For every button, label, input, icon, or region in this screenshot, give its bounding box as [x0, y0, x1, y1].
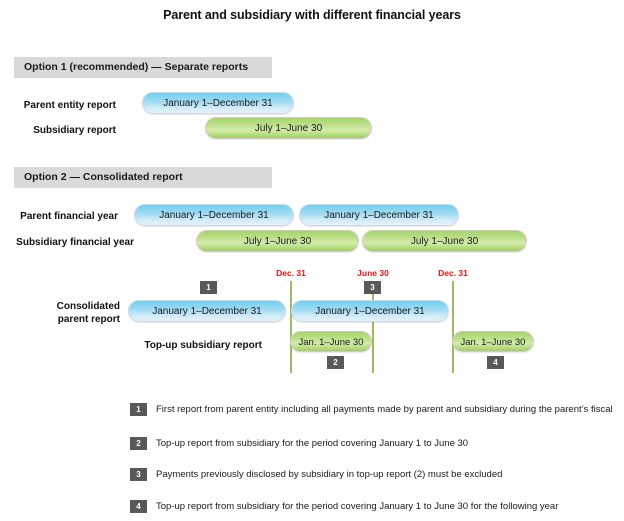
badge-marker-2: 2	[327, 356, 344, 369]
vline-dec-31-second	[452, 281, 454, 373]
pill-subsidiary-financial-year-1: July 1–June 30	[196, 230, 359, 252]
date-marker-june-30: June 30	[347, 268, 399, 278]
badge-marker-4: 4	[487, 356, 504, 369]
legend-text-1: First report from parent entity includin…	[156, 402, 613, 417]
row-label-consolidated-line1: Consolidated	[16, 300, 120, 313]
row-label-parent-entity-report: Parent entity report	[16, 99, 116, 112]
row-label-consolidated-line2: parent report	[16, 313, 120, 326]
legend-text-2: Top-up report from subsidiary for the pe…	[156, 436, 468, 451]
legend-text-4: Top-up report from subsidiary for the pe…	[156, 499, 558, 514]
date-marker-dec-31-second: Dec. 31	[427, 268, 479, 278]
row-label-subsidiary-financial-year: Subsidiary financial year	[16, 236, 134, 249]
pill-parent-entity-report: January 1–December 31	[142, 92, 294, 114]
diagram-canvas: Parent and subsidiary with different fin…	[0, 0, 624, 521]
pill-subsidiary-financial-year-2: July 1–June 30	[362, 230, 527, 252]
pill-consolidated-parent-report-2: January 1–December 31	[291, 300, 449, 322]
pill-topup-subsidiary-report-1: Jan. 1–June 30	[290, 331, 372, 352]
vline-june-30	[372, 281, 374, 373]
legend-badge-3: 3	[130, 468, 147, 481]
row-label-subsidiary-report: Subsidiary report	[24, 124, 116, 137]
date-marker-dec-31-first: Dec. 31	[265, 268, 317, 278]
pill-parent-financial-year-1: January 1–December 31	[134, 204, 294, 226]
pill-consolidated-parent-report-1: January 1–December 31	[128, 300, 286, 322]
option2-header: Option 2 — Consolidated report	[14, 167, 272, 188]
legend-badge-1: 1	[130, 403, 147, 416]
badge-marker-1: 1	[200, 281, 217, 294]
page-title: Parent and subsidiary with different fin…	[0, 8, 624, 22]
option1-header: Option 1 (recommended) — Separate report…	[14, 57, 272, 78]
badge-marker-3: 3	[364, 281, 381, 294]
pill-parent-financial-year-2: January 1–December 31	[299, 204, 459, 226]
legend-text-3: Payments previously disclosed by subsidi…	[156, 467, 502, 482]
row-label-topup-subsidiary-report: Top-up subsidiary report	[140, 339, 262, 352]
vline-dec-31-first	[290, 281, 292, 373]
pill-topup-subsidiary-report-2: Jan. 1–June 30	[452, 331, 534, 352]
row-label-parent-financial-year: Parent financial year	[16, 210, 118, 223]
pill-subsidiary-report: July 1–June 30	[205, 117, 372, 139]
legend-badge-4: 4	[130, 500, 147, 513]
row-label-consolidated-parent-report: Consolidated parent report	[16, 300, 120, 326]
legend-badge-2: 2	[130, 437, 147, 450]
